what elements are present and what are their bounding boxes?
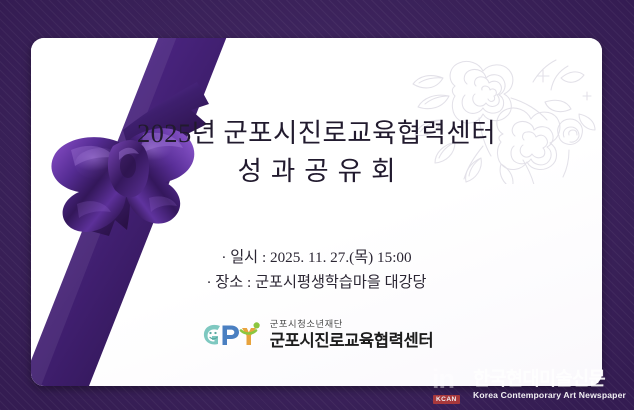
page-title: 2025년 군포시진로교육협력센터 성과공유회 — [31, 116, 602, 189]
organizer-logo: 군포시청소년재단 군포시진로교육협력센터 — [31, 320, 602, 350]
headline-line-1: 2025년 군포시진로교육협력센터 — [137, 118, 496, 148]
kcan-in-monogram-icon: in KCAN — [432, 366, 468, 404]
event-datetime: · 일시 : 2025. 11. 27.(목) 15:00 — [31, 246, 602, 271]
kcan-monogram-letters: in — [432, 366, 468, 394]
headline-line-2: 성과공유회 — [31, 154, 602, 190]
invitation-card: 2025년 군포시진로교육협력센터 성과공유회 · 일시 : 2025. 11.… — [31, 38, 602, 386]
event-venue: · 장소 : 군포시평생학습마을 대강당 — [31, 271, 602, 296]
poster-canvas: 2025년 군포시진로교육협력센터 성과공유회 · 일시 : 2025. 11.… — [0, 0, 634, 410]
kcan-watermark-text: 한국현대미술신문 Korea Contemporary Art Newspape… — [473, 370, 626, 400]
kcan-english-name: Korea Contemporary Art Newspaper — [473, 391, 626, 400]
kcan-watermark: in KCAN 한국현대미술신문 Korea Contemporary Art … — [432, 366, 626, 404]
organizer-sub-label: 군포시청소년재단 — [270, 321, 434, 330]
organizer-logo-text: 군포시청소년재단 군포시진로교육협력센터 — [270, 321, 434, 350]
event-details: · 일시 : 2025. 11. 27.(목) 15:00 · 장소 : 군포시… — [31, 246, 602, 295]
gpy-logo-mark-icon — [200, 320, 262, 350]
kcan-badge: KCAN — [433, 395, 460, 404]
kcan-korean-name: 한국현대미술신문 — [473, 370, 626, 389]
organizer-main-label: 군포시진로교육협력센터 — [270, 333, 434, 350]
